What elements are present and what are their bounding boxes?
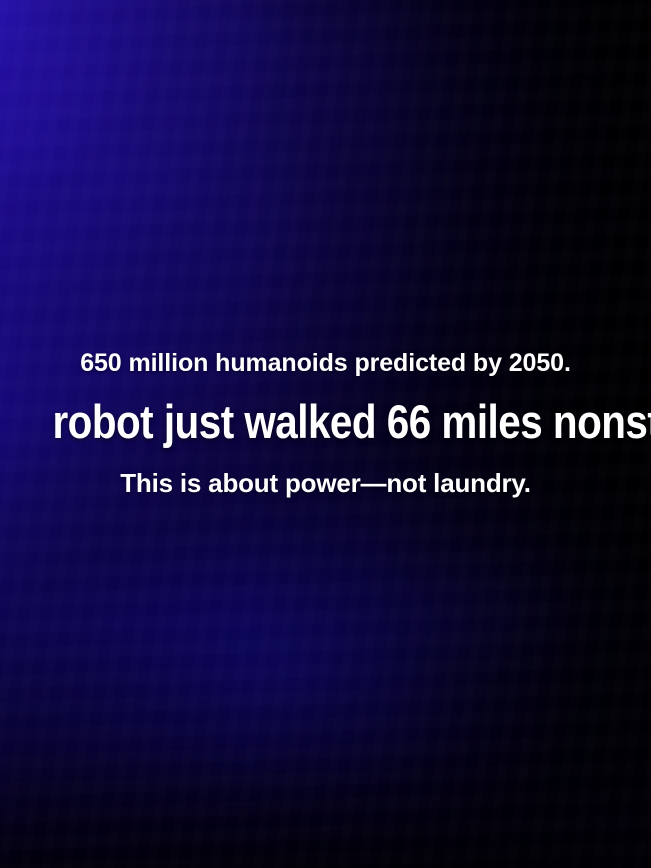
caption-text-block: 650 million humanoids predicted by 2050.…	[0, 348, 651, 499]
headline-line: robot just walked 66 miles nonstop.	[52, 395, 598, 449]
social-graphic-canvas: 650 million humanoids predicted by 2050.…	[0, 0, 651, 868]
hook-line: 650 million humanoids predicted by 2050.	[8, 348, 643, 378]
subline: This is about power—not laundry.	[8, 468, 643, 499]
